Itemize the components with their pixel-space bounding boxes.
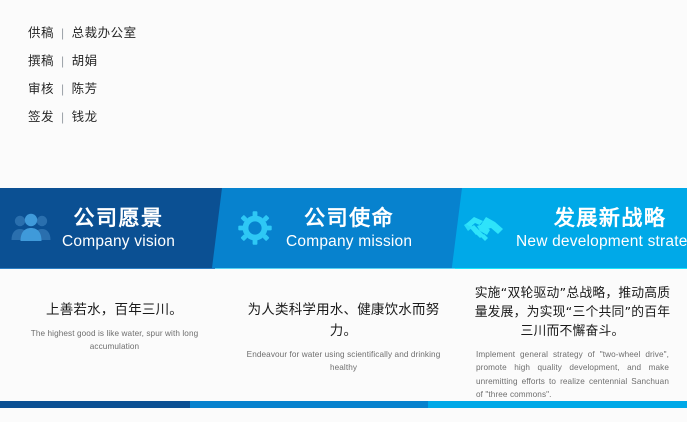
bottom-color-bar xyxy=(0,401,687,408)
banner-panel-strategy-text: 发展新战略 New development strategy xyxy=(516,206,687,251)
credit-value: 总裁办公室 xyxy=(72,22,137,41)
bottom-bar-segment-1 xyxy=(0,401,190,408)
credit-separator: | xyxy=(61,26,65,40)
content-column-strategy: 实施“双轮驱动”总战略，推动高质量发展，为实现“三个共同”的百年三川而不懈奋斗。… xyxy=(458,280,687,390)
credit-label: 撰稿 xyxy=(28,50,54,69)
banner-title-en: Company mission xyxy=(286,233,412,251)
content-text-en: Endeavour for water using scientifically… xyxy=(243,348,444,375)
banner-panel-mission: 公司使命 Company mission xyxy=(232,188,412,268)
content-text-cn: 实施“双轮驱动”总战略，推动高质量发展，为实现“三个共同”的百年三川而不懈奋斗。 xyxy=(472,284,673,342)
gear-icon xyxy=(232,205,278,251)
credit-row: 审核 | 陈芳 xyxy=(28,78,428,106)
banner-panel-strategy: 发展新战略 New development strategy xyxy=(462,188,687,268)
credit-separator: | xyxy=(61,110,65,124)
credit-value: 胡娟 xyxy=(72,50,98,69)
content-columns: 上善若水，百年三川。 The highest good is like wate… xyxy=(0,280,687,390)
banner-title-cn: 公司使命 xyxy=(304,206,394,230)
banner-panel-vision: 公司愿景 Company vision xyxy=(8,188,175,268)
credit-value: 陈芳 xyxy=(72,78,98,97)
content-text-cn: 上善若水，百年三川。 xyxy=(14,300,215,321)
banner-title-en: Company vision xyxy=(62,233,175,251)
credit-label: 审核 xyxy=(28,78,54,97)
bottom-bar-segment-2 xyxy=(190,401,428,408)
banner-title-cn: 发展新战略 xyxy=(554,206,667,230)
banner-title-en: New development strategy xyxy=(516,233,687,251)
credit-label: 供稿 xyxy=(28,22,54,41)
content-column-vision: 上善若水，百年三川。 The highest good is like wate… xyxy=(0,280,229,390)
content-column-mission: 为人类科学用水、健康饮水而努力。 Endeavour for water usi… xyxy=(229,280,458,390)
content-text-cn: 为人类科学用水、健康饮水而努力。 xyxy=(243,300,444,342)
credit-value: 钱龙 xyxy=(72,106,98,125)
banner-panel-mission-text: 公司使命 Company mission xyxy=(286,206,412,251)
banner-panel-vision-text: 公司愿景 Company vision xyxy=(62,206,175,251)
credit-row: 撰稿 | 胡娟 xyxy=(28,50,428,78)
content-text-en: The highest good is like water, spur wit… xyxy=(14,327,215,354)
credit-separator: | xyxy=(61,82,65,96)
strategy-banner: 公司愿景 Company vision 公 xyxy=(0,188,687,268)
credits-block: 供稿 | 总裁办公室 撰稿 | 胡娟 审核 | 陈芳 签发 | 钱龙 xyxy=(28,22,428,134)
people-group-icon xyxy=(8,205,54,251)
credit-label: 签发 xyxy=(28,106,54,125)
handshake-icon xyxy=(462,205,508,251)
bottom-bar-segment-3 xyxy=(428,401,687,408)
credit-row: 签发 | 钱龙 xyxy=(28,106,428,134)
content-text-en: Implement general strategy of "two-wheel… xyxy=(472,348,673,402)
credit-separator: | xyxy=(61,54,65,68)
banner-title-cn: 公司愿景 xyxy=(74,206,164,230)
credit-row: 供稿 | 总裁办公室 xyxy=(28,22,428,50)
